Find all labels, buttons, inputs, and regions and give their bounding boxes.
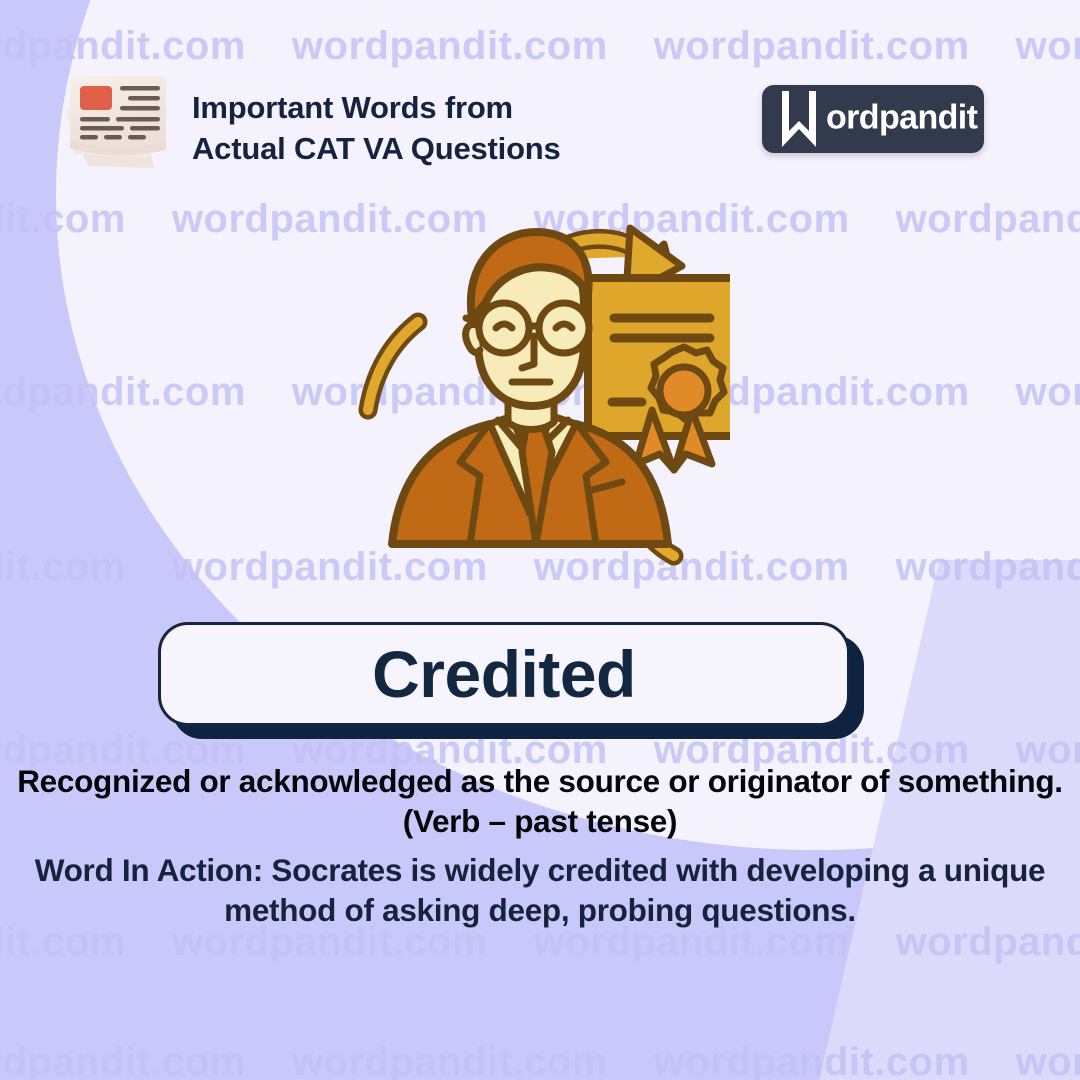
bookmark-w-icon [782, 91, 816, 147]
man-with-certificate-illustration [330, 214, 730, 574]
word-card: Credited [158, 622, 850, 726]
page-title: Important Words from Actual CAT VA Quest… [192, 88, 561, 170]
word-card-body: Credited [158, 622, 850, 726]
word-of-the-day-card: wordpandit.comwordpandit.comwordpandit.c… [0, 0, 1080, 1080]
newspaper-icon [58, 68, 180, 176]
logo-wordmark: ordpandit [826, 99, 977, 138]
word-definition: Recognized or acknowledged as the source… [16, 762, 1064, 841]
arc-left [368, 322, 418, 410]
word-in-action-sentence: Word In Action: Socrates is widely credi… [16, 850, 1064, 931]
wordpandit-logo[interactable]: ordpandit [762, 85, 984, 153]
vocabulary-word: Credited [372, 641, 636, 707]
